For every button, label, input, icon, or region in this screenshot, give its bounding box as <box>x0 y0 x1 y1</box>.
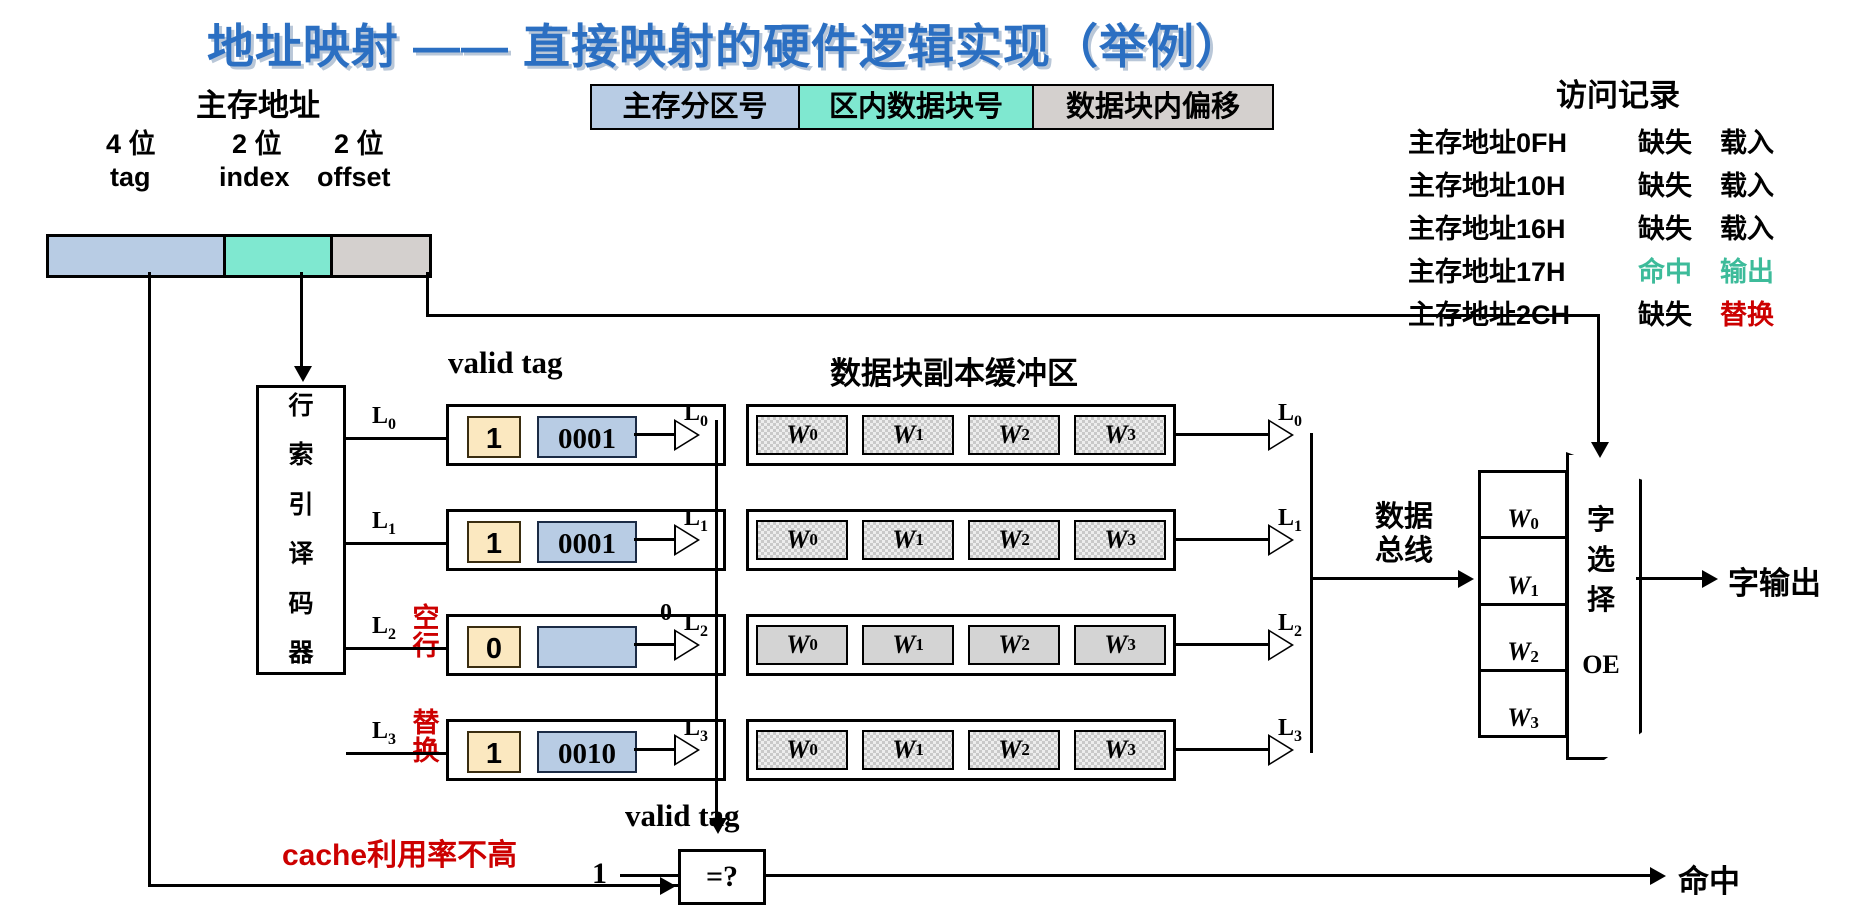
wire-decoder-l1 <box>346 542 446 545</box>
valid-bit-l2: 0 <box>467 626 521 668</box>
access-status: 命中 <box>1638 250 1720 289</box>
data-buffer-label-l1: L1 <box>1278 505 1302 536</box>
wire-tag-out-l2 <box>634 643 674 646</box>
word-input-w2: W2 <box>1481 606 1565 672</box>
word-cell: W2 <box>968 625 1060 665</box>
wire-databus-horizontal <box>1310 577 1462 580</box>
access-address: 主存地址10H <box>1408 164 1638 203</box>
decoder-out-label-l1: L1 <box>372 508 396 539</box>
main-memory-address-heading: 主存地址 <box>196 80 320 125</box>
data-bus-label-line2: 总线 <box>1354 534 1454 568</box>
word-input-stack: W0 W1 W2 W3 <box>1478 470 1568 738</box>
word-input-w1: W1 <box>1481 539 1565 605</box>
access-address: 主存地址16H <box>1408 207 1638 246</box>
data-buffer-label-l2: L2 <box>1278 610 1302 641</box>
addr-segment-index <box>226 237 333 275</box>
tag-value-l1: 0001 <box>537 521 637 563</box>
valid-tag-bottom-label: valid tag <box>625 798 740 834</box>
hit-output-label: 命中 <box>1678 856 1740 901</box>
buffer-label-l1: L1 <box>684 505 708 536</box>
valid-tag-header: valid tag <box>448 345 563 381</box>
word-input-w3: W3 <box>1481 672 1565 735</box>
wire-tag-out-l3 <box>634 748 674 751</box>
access-record-row: 主存地址16H 缺失 载入 <box>1408 207 1828 246</box>
data-buffer-label-l3: L3 <box>1278 715 1302 746</box>
data-bus-label-line1: 数据 <box>1354 500 1454 534</box>
decoder-char: 引 <box>288 493 313 518</box>
addr-segment-offset <box>333 237 429 275</box>
wire-const-to-comparator <box>620 874 678 877</box>
word-select-char: 择 <box>1578 580 1624 620</box>
access-address: 主存地址17H <box>1408 250 1638 289</box>
buffer-label-l2: L2 <box>684 610 708 641</box>
wire-data-out-l1 <box>1176 538 1268 541</box>
decoder-char: 译 <box>288 542 313 567</box>
tag-bits-label: 4 位 <box>106 122 156 161</box>
data-buffer-label-l0: L0 <box>1278 400 1302 431</box>
wire-databus-vertical <box>1310 433 1313 753</box>
word-cell: W3 <box>1074 625 1166 665</box>
offset-name-label: offset <box>317 162 391 193</box>
row-index-decoder: 行 索 引 译 码 器 <box>256 385 346 675</box>
word-cell: W0 <box>756 625 848 665</box>
decoder-char: 索 <box>288 443 313 468</box>
access-record-heading: 访问记录 <box>1408 70 1828 115</box>
decoder-char: 行 <box>288 394 313 419</box>
wire-tag-out-l1 <box>634 538 674 541</box>
access-action: 载入 <box>1720 121 1816 160</box>
wire-tag-arrow <box>660 877 676 895</box>
wire-tagbus-vertical <box>715 420 718 820</box>
word-cell: W2 <box>968 520 1060 560</box>
oe-label: OE <box>1578 650 1624 680</box>
main-memory-address-bar <box>46 234 432 278</box>
cache-line-1-data: W0 W1 W2 W3 <box>746 509 1176 571</box>
word-cell: W3 <box>1074 520 1166 560</box>
decoder-out-label-l0: L0 <box>372 403 396 434</box>
decoder-char: 码 <box>288 592 313 617</box>
addr-segment-tag <box>49 237 226 275</box>
data-buffer-header: 数据块副本缓冲区 <box>830 348 1078 393</box>
decoder-out-label-l3: L3 <box>372 718 396 749</box>
access-record-row: 主存地址10H 缺失 载入 <box>1408 164 1828 203</box>
word-output-label: 字输出 <box>1728 558 1821 603</box>
tag-comparator: =? <box>678 849 766 905</box>
wire-decoder-l0 <box>346 437 446 440</box>
address-format-legend: 主存分区号 区内数据块号 数据块内偏移 <box>590 84 1274 130</box>
access-action: 替换 <box>1720 293 1816 332</box>
valid-bit-l3: 1 <box>467 731 521 773</box>
tag-name-label: tag <box>110 162 151 193</box>
buffer-label-l0: L0 <box>684 400 708 431</box>
valid-bit-l1: 1 <box>467 521 521 563</box>
empty-line-note: 空行 <box>410 604 442 660</box>
access-record-row: 主存地址17H 命中 输出 <box>1408 250 1828 289</box>
legend-field-offset: 数据块内偏移 <box>1034 86 1272 128</box>
wire-offset-down <box>426 272 429 316</box>
wire-databus-arrow <box>1458 570 1474 588</box>
word-cell: W0 <box>756 415 848 455</box>
tag-value-l2 <box>537 626 637 668</box>
word-select-label: 字 选 择 <box>1578 500 1624 620</box>
word-cell: W1 <box>862 520 954 560</box>
wire-tag-down <box>148 272 151 884</box>
wire-decoder-l2 <box>346 647 446 650</box>
word-cell: W2 <box>968 415 1060 455</box>
data-bus-label: 数据 总线 <box>1354 500 1454 568</box>
cache-line-0-data: W0 W1 W2 W3 <box>746 404 1176 466</box>
word-select-char: 字 <box>1578 500 1624 540</box>
wire-data-out-l3 <box>1176 748 1268 751</box>
wire-word-output <box>1636 577 1706 580</box>
buffer-label-l3: L3 <box>684 715 708 746</box>
tag-value-l3: 0010 <box>537 731 637 773</box>
access-action: 载入 <box>1720 207 1816 246</box>
cache-line-2-data: W0 W1 W2 W3 <box>746 614 1176 676</box>
wire-data-out-l0 <box>1176 433 1268 436</box>
access-status: 缺失 <box>1638 164 1720 203</box>
cache-utilization-note: cache利用率不高 <box>282 830 517 874</box>
word-cell: W1 <box>862 625 954 665</box>
wire-word-output-arrow <box>1702 570 1718 588</box>
cache-line-3-data: W0 W1 W2 W3 <box>746 719 1176 781</box>
access-status: 缺失 <box>1638 121 1720 160</box>
wire-offset-right <box>426 314 1600 317</box>
access-address: 主存地址0FH <box>1408 121 1638 160</box>
access-record-row: 主存地址2CH 缺失 替换 <box>1408 293 1828 332</box>
word-cell: W0 <box>756 730 848 770</box>
decoder-out-label-l2: L2 <box>372 613 396 644</box>
offset-bits-label: 2 位 <box>334 122 384 161</box>
index-bits-label: 2 位 <box>232 122 282 161</box>
wire-data-out-l2 <box>1176 643 1268 646</box>
wire-hit-arrow <box>1650 867 1666 885</box>
access-status: 缺失 <box>1638 207 1720 246</box>
access-action: 输出 <box>1720 250 1816 289</box>
wire-offset-down2 <box>1597 314 1600 446</box>
valid-bit-l0: 1 <box>467 416 521 458</box>
access-address: 主存地址2CH <box>1408 293 1638 332</box>
legend-field-index: 区内数据块号 <box>800 86 1034 128</box>
replace-line-note: 替换 <box>410 709 442 765</box>
wire-index-down <box>300 272 303 368</box>
word-cell: W3 <box>1074 730 1166 770</box>
tag-value-l0: 0001 <box>537 416 637 458</box>
legend-field-tag: 主存分区号 <box>592 86 800 128</box>
access-action: 载入 <box>1720 164 1816 203</box>
word-input-w0: W0 <box>1481 473 1565 539</box>
word-cell: W1 <box>862 415 954 455</box>
word-cell: W3 <box>1074 415 1166 455</box>
wire-comparator-output <box>766 874 1656 877</box>
wire-decoder-l3 <box>346 752 446 755</box>
access-status: 缺失 <box>1638 293 1720 332</box>
word-cell: W0 <box>756 520 848 560</box>
index-name-label: index <box>219 162 290 193</box>
comparator-const-input: 1 <box>592 857 607 891</box>
access-record-panel: 访问记录 主存地址0FH 缺失 载入 主存地址10H 缺失 载入 主存地址16H… <box>1408 70 1828 336</box>
zero-output-label: 0 <box>660 600 672 627</box>
page-title: 地址映射 —— 直接映射的硬件逻辑实现（举例） <box>0 8 1450 77</box>
word-cell: W1 <box>862 730 954 770</box>
wire-tag-out-l0 <box>634 433 674 436</box>
word-cell: W2 <box>968 730 1060 770</box>
access-record-row: 主存地址0FH 缺失 载入 <box>1408 121 1828 160</box>
decoder-char: 器 <box>288 641 313 666</box>
wire-index-arrow <box>294 366 312 382</box>
word-select-char: 选 <box>1578 540 1624 580</box>
